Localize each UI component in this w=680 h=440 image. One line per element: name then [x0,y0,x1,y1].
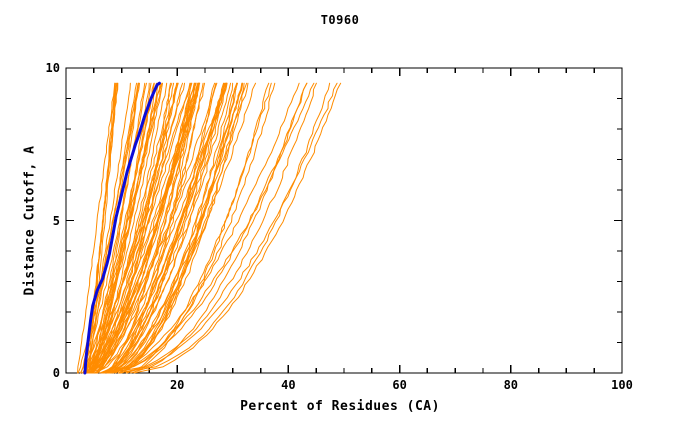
model-curves [78,83,341,373]
x-tick-label: 80 [491,378,531,392]
y-tick-label: 0 [30,366,60,380]
x-tick-label: 60 [380,378,420,392]
y-tick-label: 5 [30,214,60,228]
plot-area [0,0,680,440]
model-curve [134,83,341,373]
y-tick-label: 10 [30,61,60,75]
x-axis-label: Percent of Residues (CA) [0,399,680,414]
x-tick-label: 40 [268,378,308,392]
chart-page: T0960 Percent of Residues (CA) Distance … [0,0,680,440]
x-tick-label: 20 [157,378,197,392]
x-tick-label: 100 [602,378,642,392]
x-tick-label: 0 [46,378,86,392]
